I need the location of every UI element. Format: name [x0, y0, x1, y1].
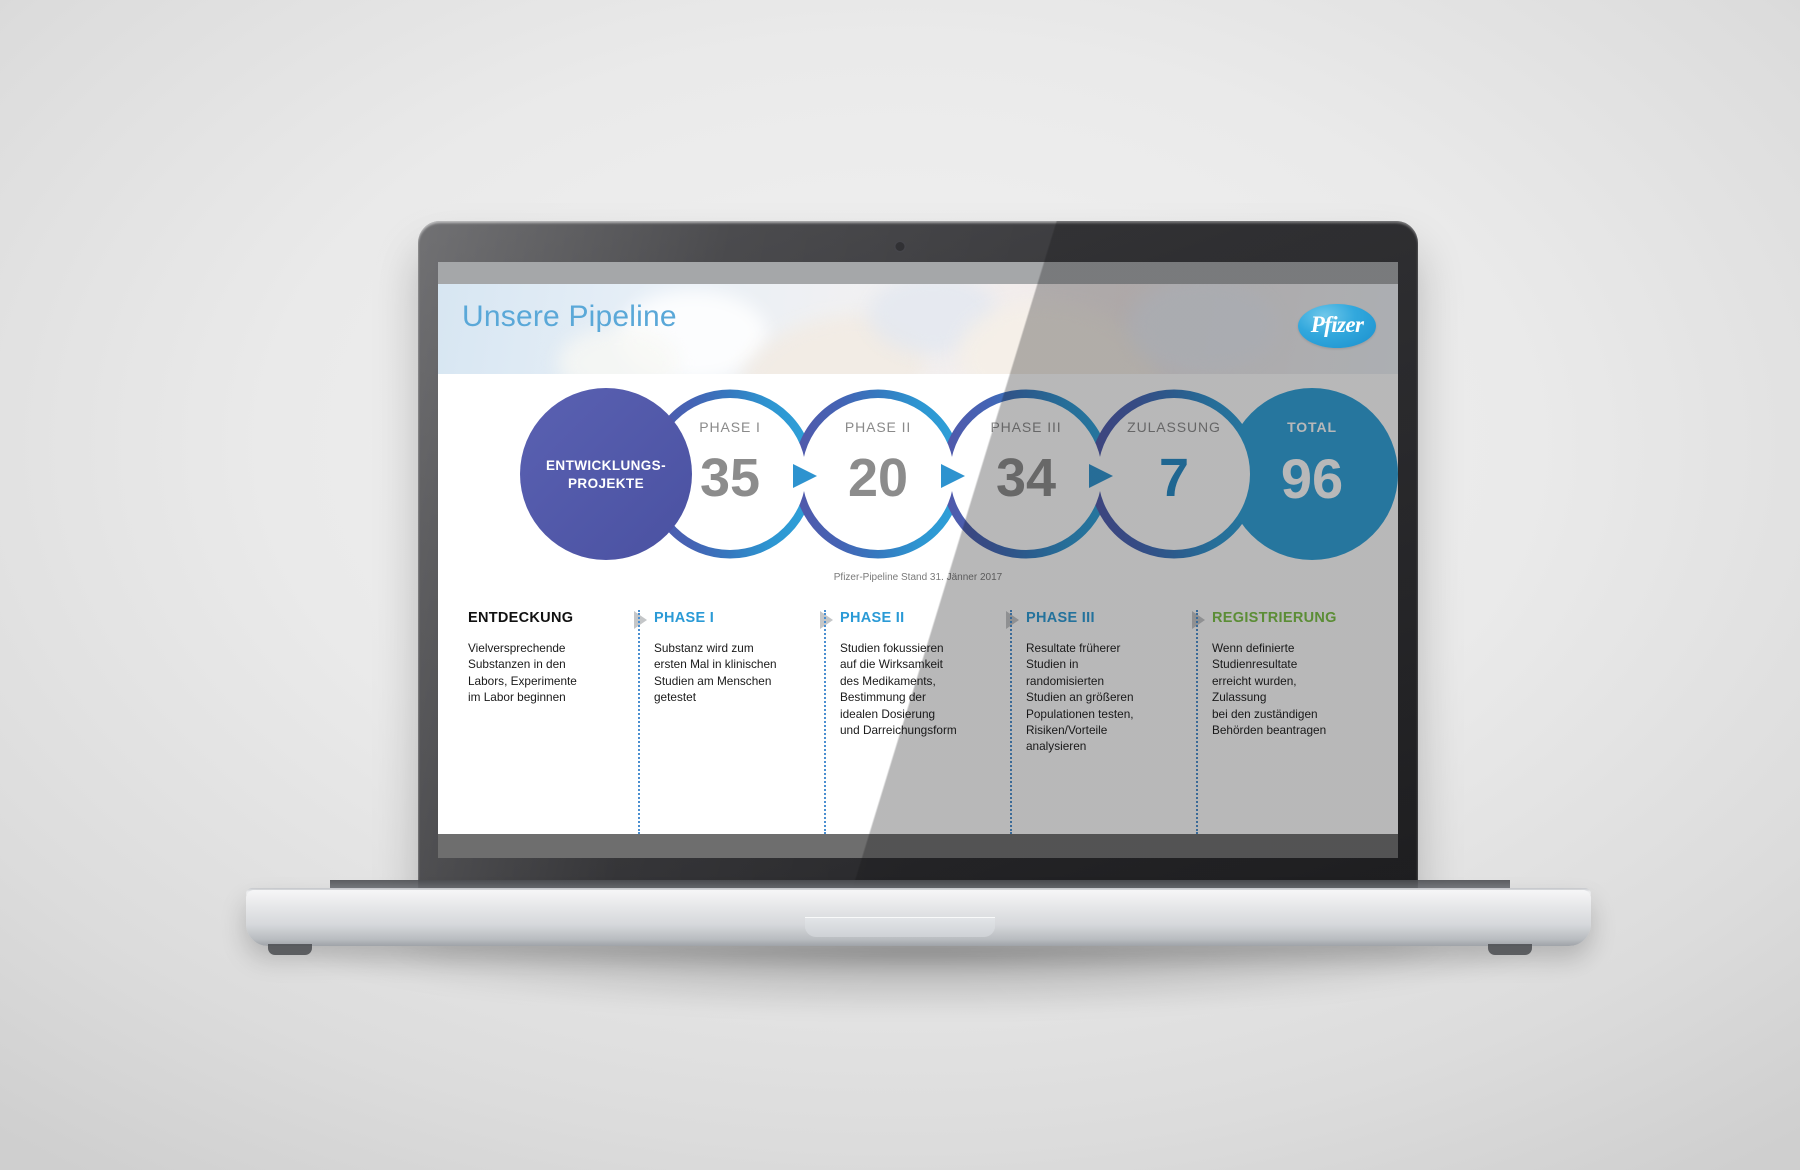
stage-label-phase-iii: PHASE III — [990, 419, 1061, 435]
column-body: Resultate früherer Studien in randomisie… — [1026, 640, 1184, 755]
stage-label-phase-ii: PHASE II — [845, 419, 911, 435]
total-value: 96 — [1281, 447, 1343, 510]
column-phase-ii: PHASE II Studien fokussieren auf die Wir… — [824, 610, 1010, 834]
column-heading: PHASE I — [654, 610, 812, 626]
column-body: Studien fokussieren auf die Wirksamkeit … — [840, 640, 998, 738]
pfizer-logo-text: Pfizer — [1311, 312, 1364, 338]
slide-top-band — [438, 262, 1398, 284]
column-body: Vielversprechende Substanzen in den Labo… — [468, 640, 626, 706]
lead-circle — [520, 388, 692, 560]
laptop-foot — [268, 944, 312, 955]
stage-value-phase-ii: 20 — [848, 448, 908, 508]
total-label: TOTAL — [1287, 419, 1337, 435]
stage-label-zulassung: ZULASSUNG — [1127, 419, 1221, 435]
column-entdeckung: ENTDECKUNG Vielversprechende Substanzen … — [454, 610, 638, 834]
column-body: Wenn definierte Studienresultate erreich… — [1212, 640, 1370, 738]
slide-bottom-band — [438, 834, 1398, 858]
laptop-foot — [1488, 944, 1532, 955]
stage-value-zulassung: 7 — [1159, 448, 1189, 508]
laptop-device: Unsere Pipeline Pfizer — [0, 0, 1800, 1170]
laptop-shadow — [300, 944, 1540, 1014]
column-heading: REGISTRIERUNG — [1212, 610, 1370, 626]
column-heading: PHASE III — [1026, 610, 1184, 626]
pipeline-chain-section: ENTWICKLUNGS- PROJEKTE PHASE I 35 PHASE … — [438, 374, 1398, 589]
slide-title: Unsere Pipeline — [462, 300, 677, 334]
lead-label-line1: ENTWICKLUNGS- — [546, 458, 666, 473]
pfizer-logo: Pfizer — [1298, 304, 1376, 348]
pipeline-chain-diagram: ENTWICKLUNGS- PROJEKTE PHASE I 35 PHASE … — [438, 374, 1398, 589]
lead-label-line2: PROJEKTE — [568, 476, 644, 491]
header-image-blob — [1128, 284, 1278, 374]
column-heading: PHASE II — [840, 610, 998, 626]
column-registrierung: REGISTRIERUNG Wenn definierte Studienres… — [1196, 610, 1382, 834]
base-front-notch — [805, 917, 995, 937]
column-heading: ENTDECKUNG — [468, 610, 626, 626]
slide-header: Unsere Pipeline Pfizer — [438, 284, 1398, 374]
column-phase-iii: PHASE III Resultate früherer Studien in … — [1010, 610, 1196, 834]
phase-description-columns: ENTDECKUNG Vielversprechende Substanzen … — [438, 610, 1398, 834]
laptop-screen: Unsere Pipeline Pfizer — [438, 262, 1398, 858]
stage-value-phase-i: 35 — [700, 448, 760, 508]
stage-label-phase-i: PHASE I — [699, 419, 761, 435]
column-body: Substanz wird zum ersten Mal in klinisch… — [654, 640, 812, 706]
presentation-slide: Unsere Pipeline Pfizer — [438, 262, 1398, 858]
pipeline-caption: Pfizer-Pipeline Stand 31. Jänner 2017 — [438, 572, 1398, 583]
stage-value-phase-iii: 34 — [996, 448, 1056, 508]
webcam-icon — [896, 242, 905, 251]
column-phase-i: PHASE I Substanz wird zum ersten Mal in … — [638, 610, 824, 834]
